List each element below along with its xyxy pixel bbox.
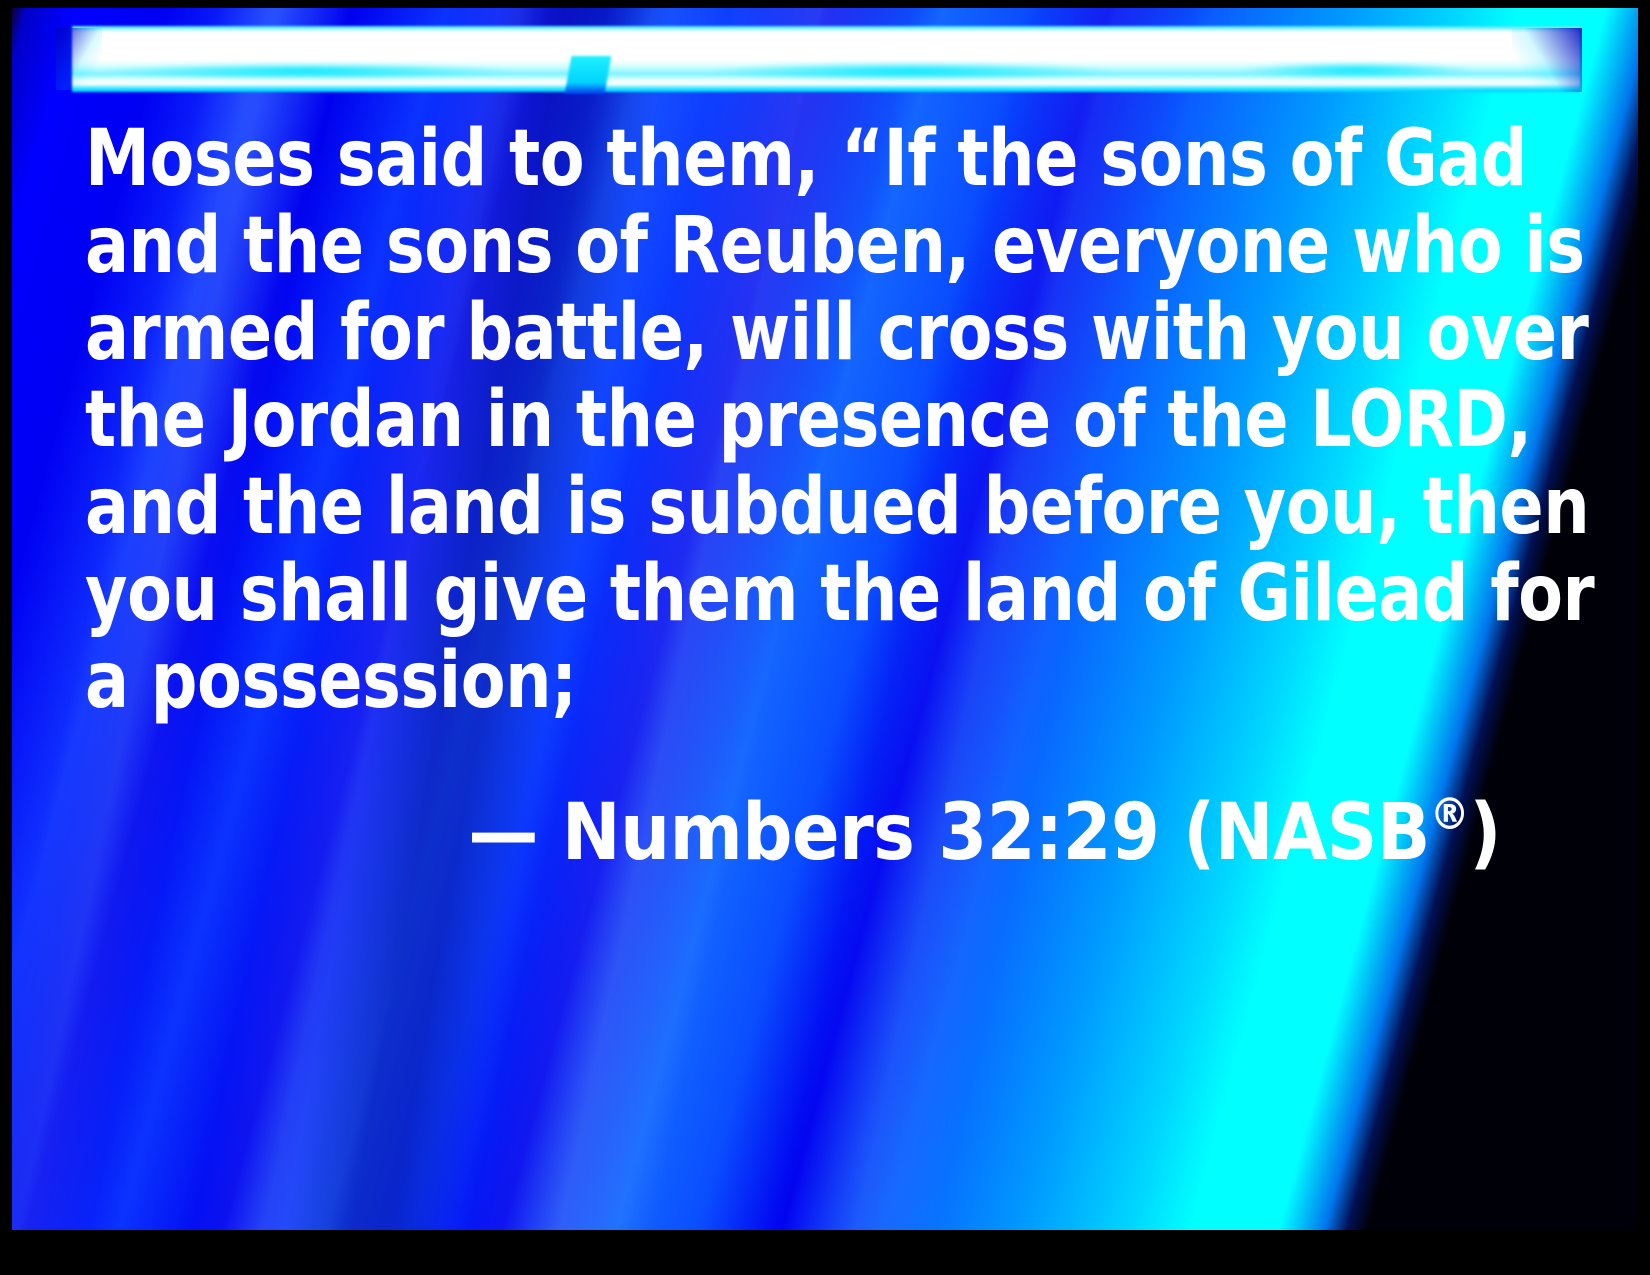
gradient-background-panel: Moses said to them, “If the sons of Gad … xyxy=(12,8,1638,1230)
verse-line: a possession; xyxy=(85,638,1471,725)
registered-trademark-icon: ® xyxy=(1430,789,1470,840)
top-glow-notch xyxy=(565,56,612,94)
verse-line: and the sons of Reuben, everyone who is xyxy=(85,203,1471,290)
verse-line: you shall give them the land of Gilead f… xyxy=(85,551,1471,638)
top-glow-streak-center xyxy=(712,62,1112,80)
top-glow-left-bevel xyxy=(56,28,102,90)
attribution-dash: — xyxy=(468,788,538,878)
attribution-chapter-verse: 32:29 xyxy=(938,788,1159,878)
top-glow-streak-right xyxy=(1242,62,1472,78)
verse-text-block: Moses said to them, “If the sons of Gad … xyxy=(85,116,1575,877)
verse-attribution: — Numbers 32:29 (NASB®) xyxy=(85,771,1575,877)
verse-line: Moses said to them, “If the sons of Gad xyxy=(85,116,1471,203)
verse-line: armed for battle, will cross with you ov… xyxy=(85,290,1471,377)
attribution-book: Numbers xyxy=(562,788,915,878)
verse-line: the Jordan in the presence of the LORD, xyxy=(85,377,1471,464)
attribution-paren-close: ) xyxy=(1469,788,1501,878)
attribution-translation: (NASB xyxy=(1183,788,1430,878)
slide-frame: Moses said to them, “If the sons of Gad … xyxy=(0,0,1650,1275)
verse-line: and the land is subdued before you, then xyxy=(85,464,1471,551)
top-glow-right-bevel xyxy=(1512,28,1582,92)
top-glow-streak-left xyxy=(107,63,507,79)
top-glow-bar xyxy=(72,26,1580,92)
